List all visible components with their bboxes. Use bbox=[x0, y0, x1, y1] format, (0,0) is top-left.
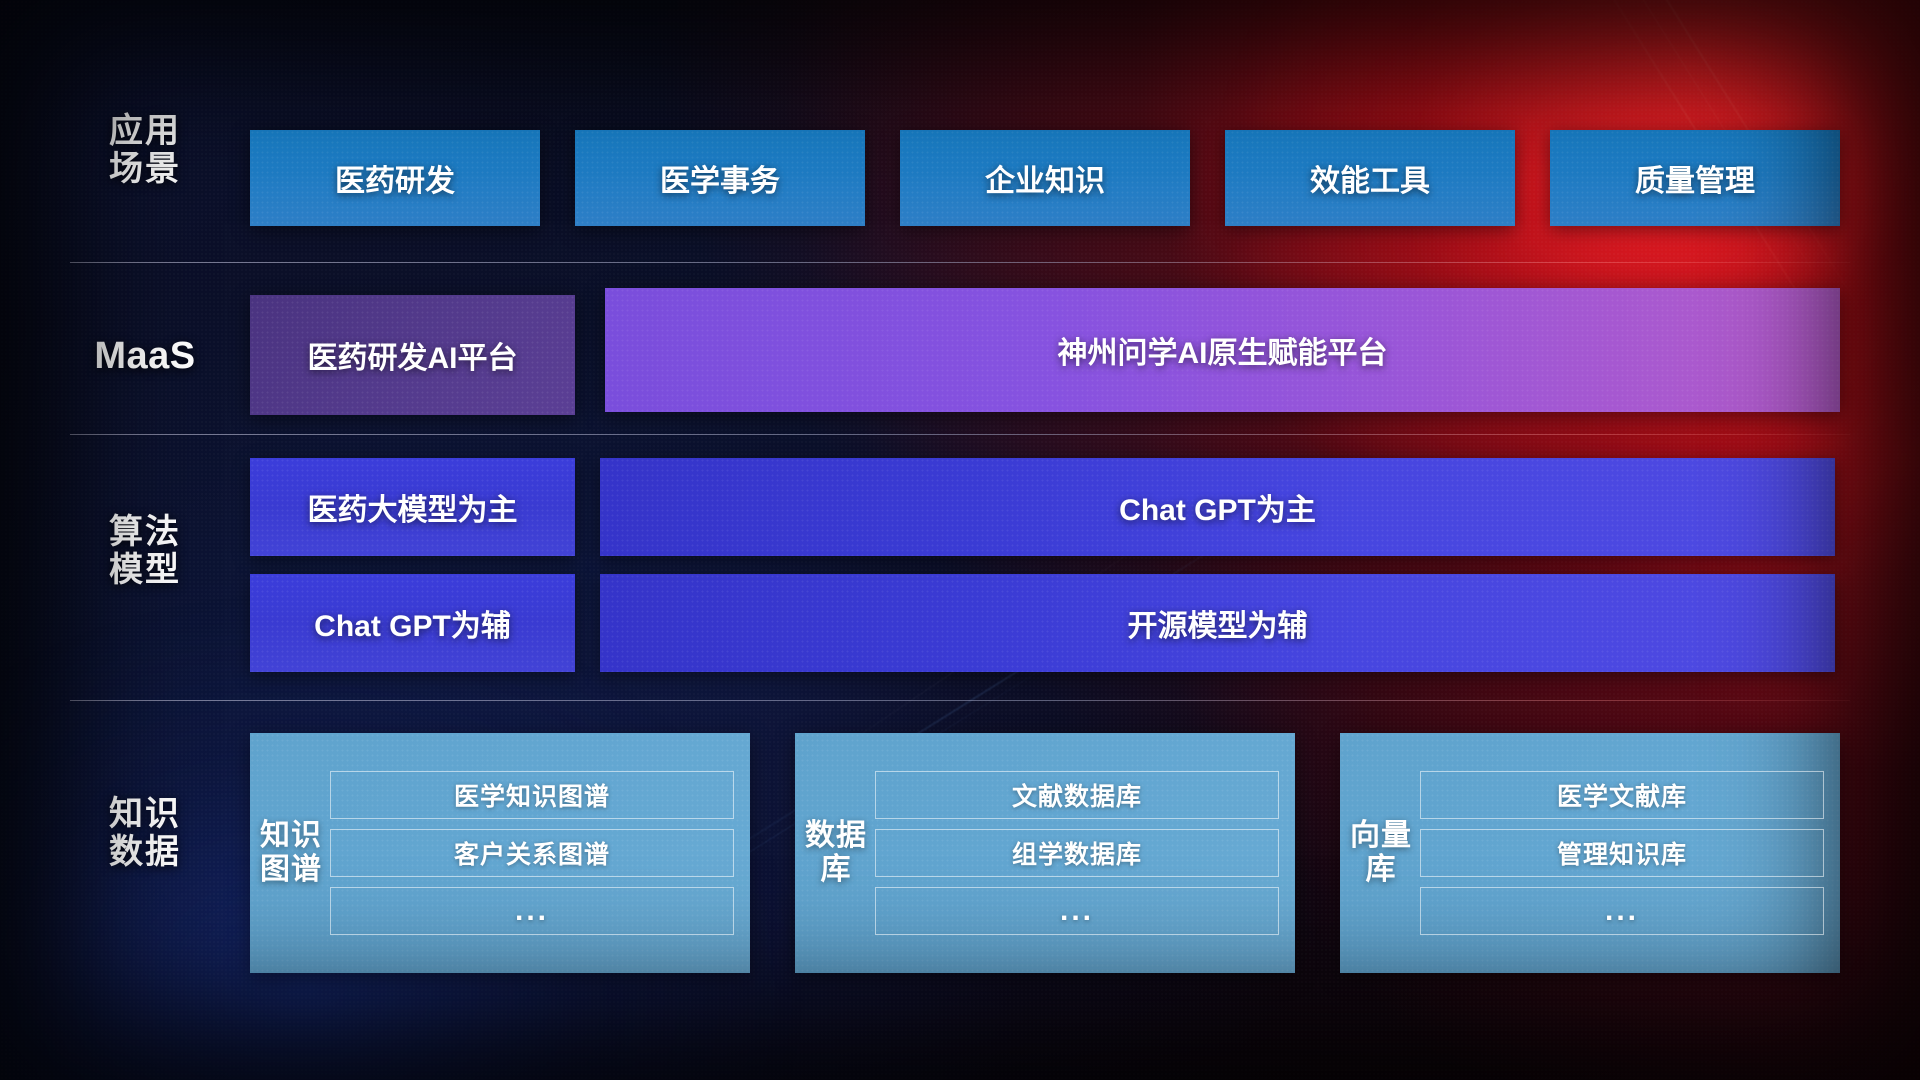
knowledge-group-items: 医学文献库 管理知识库 ... bbox=[1420, 771, 1824, 935]
knowledge-group-database[interactable]: 数据库 文献数据库 组学数据库 ... bbox=[795, 733, 1295, 973]
app-scenario-label: 医药研发 bbox=[335, 156, 455, 200]
row-divider-3 bbox=[70, 700, 1850, 701]
knowledge-group-items: 医学知识图谱 客户关系图谱 ... bbox=[330, 771, 734, 935]
row-label-application-scenarios: 应用 场景 bbox=[60, 112, 230, 188]
app-scenario-card-1[interactable]: 医药研发 bbox=[250, 130, 540, 226]
app-scenario-card-4[interactable]: 效能工具 bbox=[1225, 130, 1515, 226]
architecture-diagram: 应用 场景 医药研发 医学事务 企业知识 效能工具 质量管理 MaaS 医药研发… bbox=[0, 0, 1920, 1080]
app-scenario-label: 效能工具 bbox=[1310, 156, 1430, 200]
algorithm-label: Chat GPT为主 bbox=[1119, 485, 1316, 529]
knowledge-item[interactable]: 医学知识图谱 bbox=[330, 771, 734, 819]
knowledge-group-vector[interactable]: 向量库 医学文献库 管理知识库 ... bbox=[1340, 733, 1840, 973]
row-label-algorithm-model: 算法 模型 bbox=[60, 513, 230, 589]
knowledge-item[interactable]: 组学数据库 bbox=[875, 829, 1279, 877]
knowledge-item[interactable]: 文献数据库 bbox=[875, 771, 1279, 819]
app-scenario-card-5[interactable]: 质量管理 bbox=[1550, 130, 1840, 226]
algorithm-label: 医药大模型为主 bbox=[308, 485, 518, 529]
knowledge-group-title: 向量库 bbox=[1350, 819, 1412, 887]
app-scenario-card-3[interactable]: 企业知识 bbox=[900, 130, 1190, 226]
app-scenario-label: 医学事务 bbox=[660, 156, 780, 200]
knowledge-item[interactable]: 医学文献库 bbox=[1420, 771, 1824, 819]
knowledge-item-more[interactable]: ... bbox=[330, 887, 734, 935]
algorithm-card-chatgpt-secondary[interactable]: Chat GPT为辅 bbox=[250, 574, 575, 672]
knowledge-item[interactable]: 客户关系图谱 bbox=[330, 829, 734, 877]
row-label-knowledge-data: 知识 数据 bbox=[60, 795, 230, 871]
algorithm-label: Chat GPT为辅 bbox=[314, 601, 511, 645]
knowledge-group-items: 文献数据库 组学数据库 ... bbox=[875, 771, 1279, 935]
row-divider-2 bbox=[70, 434, 1850, 435]
app-scenario-card-2[interactable]: 医学事务 bbox=[575, 130, 865, 226]
knowledge-group-title: 知识图谱 bbox=[260, 819, 322, 887]
slide-canvas: 应用 场景 医药研发 医学事务 企业知识 效能工具 质量管理 MaaS 医药研发… bbox=[0, 0, 1920, 1080]
maas-platform-card-medical[interactable]: 医药研发AI平台 bbox=[250, 295, 575, 415]
algorithm-card-opensource-secondary[interactable]: 开源模型为辅 bbox=[600, 574, 1835, 672]
row-divider-1 bbox=[70, 262, 1850, 263]
knowledge-item[interactable]: 管理知识库 bbox=[1420, 829, 1824, 877]
knowledge-item-more[interactable]: ... bbox=[1420, 887, 1824, 935]
knowledge-group-title: 数据库 bbox=[805, 819, 867, 887]
app-scenario-label: 质量管理 bbox=[1635, 156, 1755, 200]
knowledge-group-graph[interactable]: 知识图谱 医学知识图谱 客户关系图谱 ... bbox=[250, 733, 750, 973]
maas-left-label: 医药研发AI平台 bbox=[308, 333, 518, 377]
algorithm-label: 开源模型为辅 bbox=[1128, 601, 1308, 645]
maas-right-label: 神州问学AI原生赋能平台 bbox=[1058, 328, 1388, 372]
app-scenario-label: 企业知识 bbox=[985, 156, 1105, 200]
algorithm-card-medical-primary[interactable]: 医药大模型为主 bbox=[250, 458, 575, 556]
maas-platform-card-main[interactable]: 神州问学AI原生赋能平台 bbox=[605, 288, 1840, 412]
row-label-maas: MaaS bbox=[60, 335, 230, 378]
knowledge-item-more[interactable]: ... bbox=[875, 887, 1279, 935]
algorithm-card-chatgpt-primary[interactable]: Chat GPT为主 bbox=[600, 458, 1835, 556]
